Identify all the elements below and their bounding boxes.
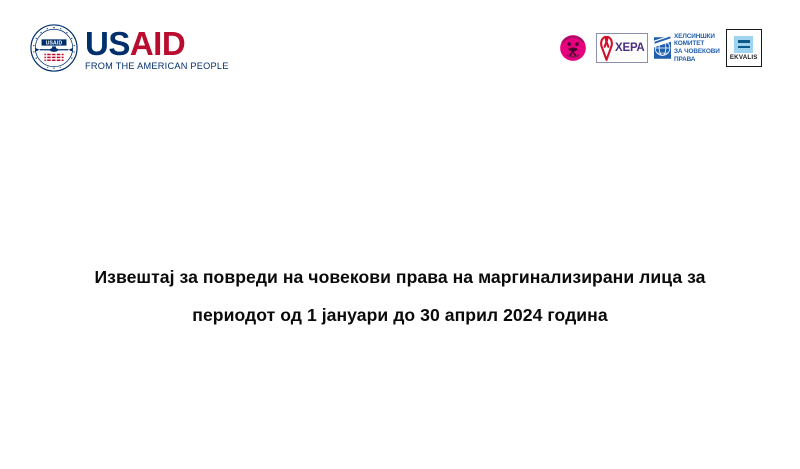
- helsinki-line-1: ХЕЛСИНШКИ: [674, 33, 720, 41]
- title-block: Извештај за повреди на човекови права на…: [0, 258, 800, 334]
- aids-ribbon-icon: [599, 35, 614, 61]
- svg-text:USAID: USAID: [46, 40, 63, 46]
- usaid-tagline: FROM THE AMERICAN PEOPLE: [85, 61, 229, 72]
- helsinki-committee-text: ХЕЛСИНШКИ КОМИТЕТ ЗА ЧОВЕКОВИ ПРАВА: [674, 33, 720, 63]
- globe-flag-icon: [654, 34, 671, 62]
- ekvalis-logo-text: EKVALIS: [730, 54, 758, 61]
- hera-logo-text: ХЕРА: [615, 42, 645, 54]
- helsinki-line-3: ЗА ЧОВЕКОВИ: [674, 48, 720, 56]
- equals-sign-icon: [734, 36, 753, 53]
- stronger-together-circle-logo: ЗАЕДНО ПОСИЛНИ STRONGER: [556, 29, 590, 67]
- usaid-wordmark-us: US: [85, 25, 130, 62]
- hera-logo: ХЕРА: [596, 33, 648, 63]
- usaid-seal-icon: USAID: [30, 24, 78, 72]
- partner-logos-group: ЗАЕДНО ПОСИЛНИ STRONGER ХЕРА: [556, 26, 762, 70]
- usaid-wordmark-text: USAID: [85, 27, 229, 60]
- helsinki-line-2: КОМИТЕТ: [674, 40, 720, 48]
- helsinki-line-4: ПРАВА: [674, 56, 720, 64]
- page-title-line-2: периодот од 1 јануари до 30 април 2024 г…: [192, 305, 607, 325]
- ekvalis-logo: EKVALIS: [726, 29, 762, 67]
- page-title: Извештај за повреди на човекови права на…: [0, 258, 800, 334]
- usaid-wordmark: USAID FROM THE AMERICAN PEOPLE: [85, 25, 229, 72]
- logo-header-bar: USAID: [0, 0, 800, 95]
- usaid-wordmark-aid: AID: [130, 25, 185, 62]
- page-title-line-1: Извештај за повреди на човекови права на…: [94, 267, 705, 287]
- helsinki-committee-logo: ХЕЛСИНШКИ КОМИТЕТ ЗА ЧОВЕКОВИ ПРАВА: [654, 30, 720, 66]
- usaid-logo: USAID: [30, 24, 229, 72]
